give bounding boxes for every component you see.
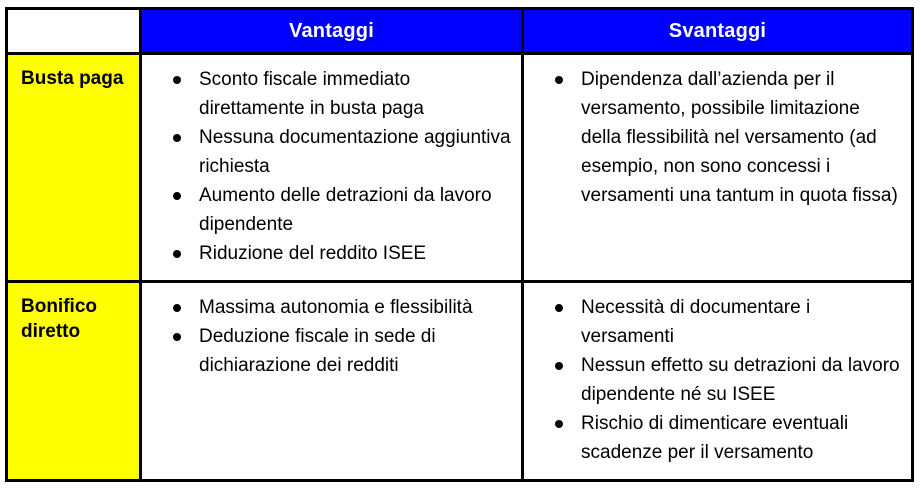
table-body: Busta paga Sconto fiscale immediato dire… xyxy=(7,54,913,481)
row-label-bonifico-diretto: Bonifico diretto xyxy=(8,283,139,354)
comparison-table-container: Vantaggi Svantaggi Busta paga Sconto fis… xyxy=(5,7,911,482)
list-item: Necessità di documentare i versamenti xyxy=(524,293,901,351)
bullet-list-bonifico-diretto-svantaggi: Necessità di documentare i versamenti Ne… xyxy=(524,283,911,479)
header-cell-vantaggi: Vantaggi xyxy=(141,9,523,54)
list-item: Nessuna documentazione aggiuntiva richie… xyxy=(142,123,511,181)
cell-bonifico-diretto-vantaggi: Massima autonomia e flessibilità Deduzio… xyxy=(141,282,523,481)
list-item: Rischio di dimenticare eventuali scadenz… xyxy=(524,409,901,467)
cell-busta-paga-vantaggi: Sconto fiscale immediato direttamente in… xyxy=(141,54,523,282)
list-item: Dipendenza dall’azienda per il versament… xyxy=(524,65,901,210)
cell-bonifico-diretto-svantaggi: Necessità di documentare i versamenti Ne… xyxy=(523,282,913,481)
list-item: Deduzione fiscale in sede di dichiarazio… xyxy=(142,322,511,380)
comparison-table: Vantaggi Svantaggi Busta paga Sconto fis… xyxy=(5,7,914,482)
table-header: Vantaggi Svantaggi xyxy=(7,9,913,54)
list-item: Nessun effetto su detrazioni da lavoro d… xyxy=(524,351,901,409)
header-label-vantaggi: Vantaggi xyxy=(142,10,521,52)
bullet-list-busta-paga-svantaggi: Dipendenza dall’azienda per il versament… xyxy=(524,55,911,222)
list-item: Aumento delle detrazioni da lavoro dipen… xyxy=(142,181,511,239)
bullet-list-busta-paga-vantaggi: Sconto fiscale immediato direttamente in… xyxy=(142,55,521,280)
header-row: Vantaggi Svantaggi xyxy=(7,9,913,54)
row-label-cell-bonifico-diretto: Bonifico diretto xyxy=(7,282,141,481)
row-label-busta-paga: Busta paga xyxy=(8,55,139,101)
list-item: Massima autonomia e flessibilità xyxy=(142,293,511,322)
cell-busta-paga-svantaggi: Dipendenza dall’azienda per il versament… xyxy=(523,54,913,282)
table-row: Busta paga Sconto fiscale immediato dire… xyxy=(7,54,913,282)
bullet-list-bonifico-diretto-vantaggi: Massima autonomia e flessibilità Deduzio… xyxy=(142,283,521,392)
header-cell-svantaggi: Svantaggi xyxy=(523,9,913,54)
table-row: Bonifico diretto Massima autonomia e fle… xyxy=(7,282,913,481)
header-label-svantaggi: Svantaggi xyxy=(524,10,911,52)
header-corner-cell xyxy=(7,9,141,54)
list-item: Riduzione del reddito ISEE xyxy=(142,239,511,268)
row-label-cell-busta-paga: Busta paga xyxy=(7,54,141,282)
list-item: Sconto fiscale immediato direttamente in… xyxy=(142,65,511,123)
